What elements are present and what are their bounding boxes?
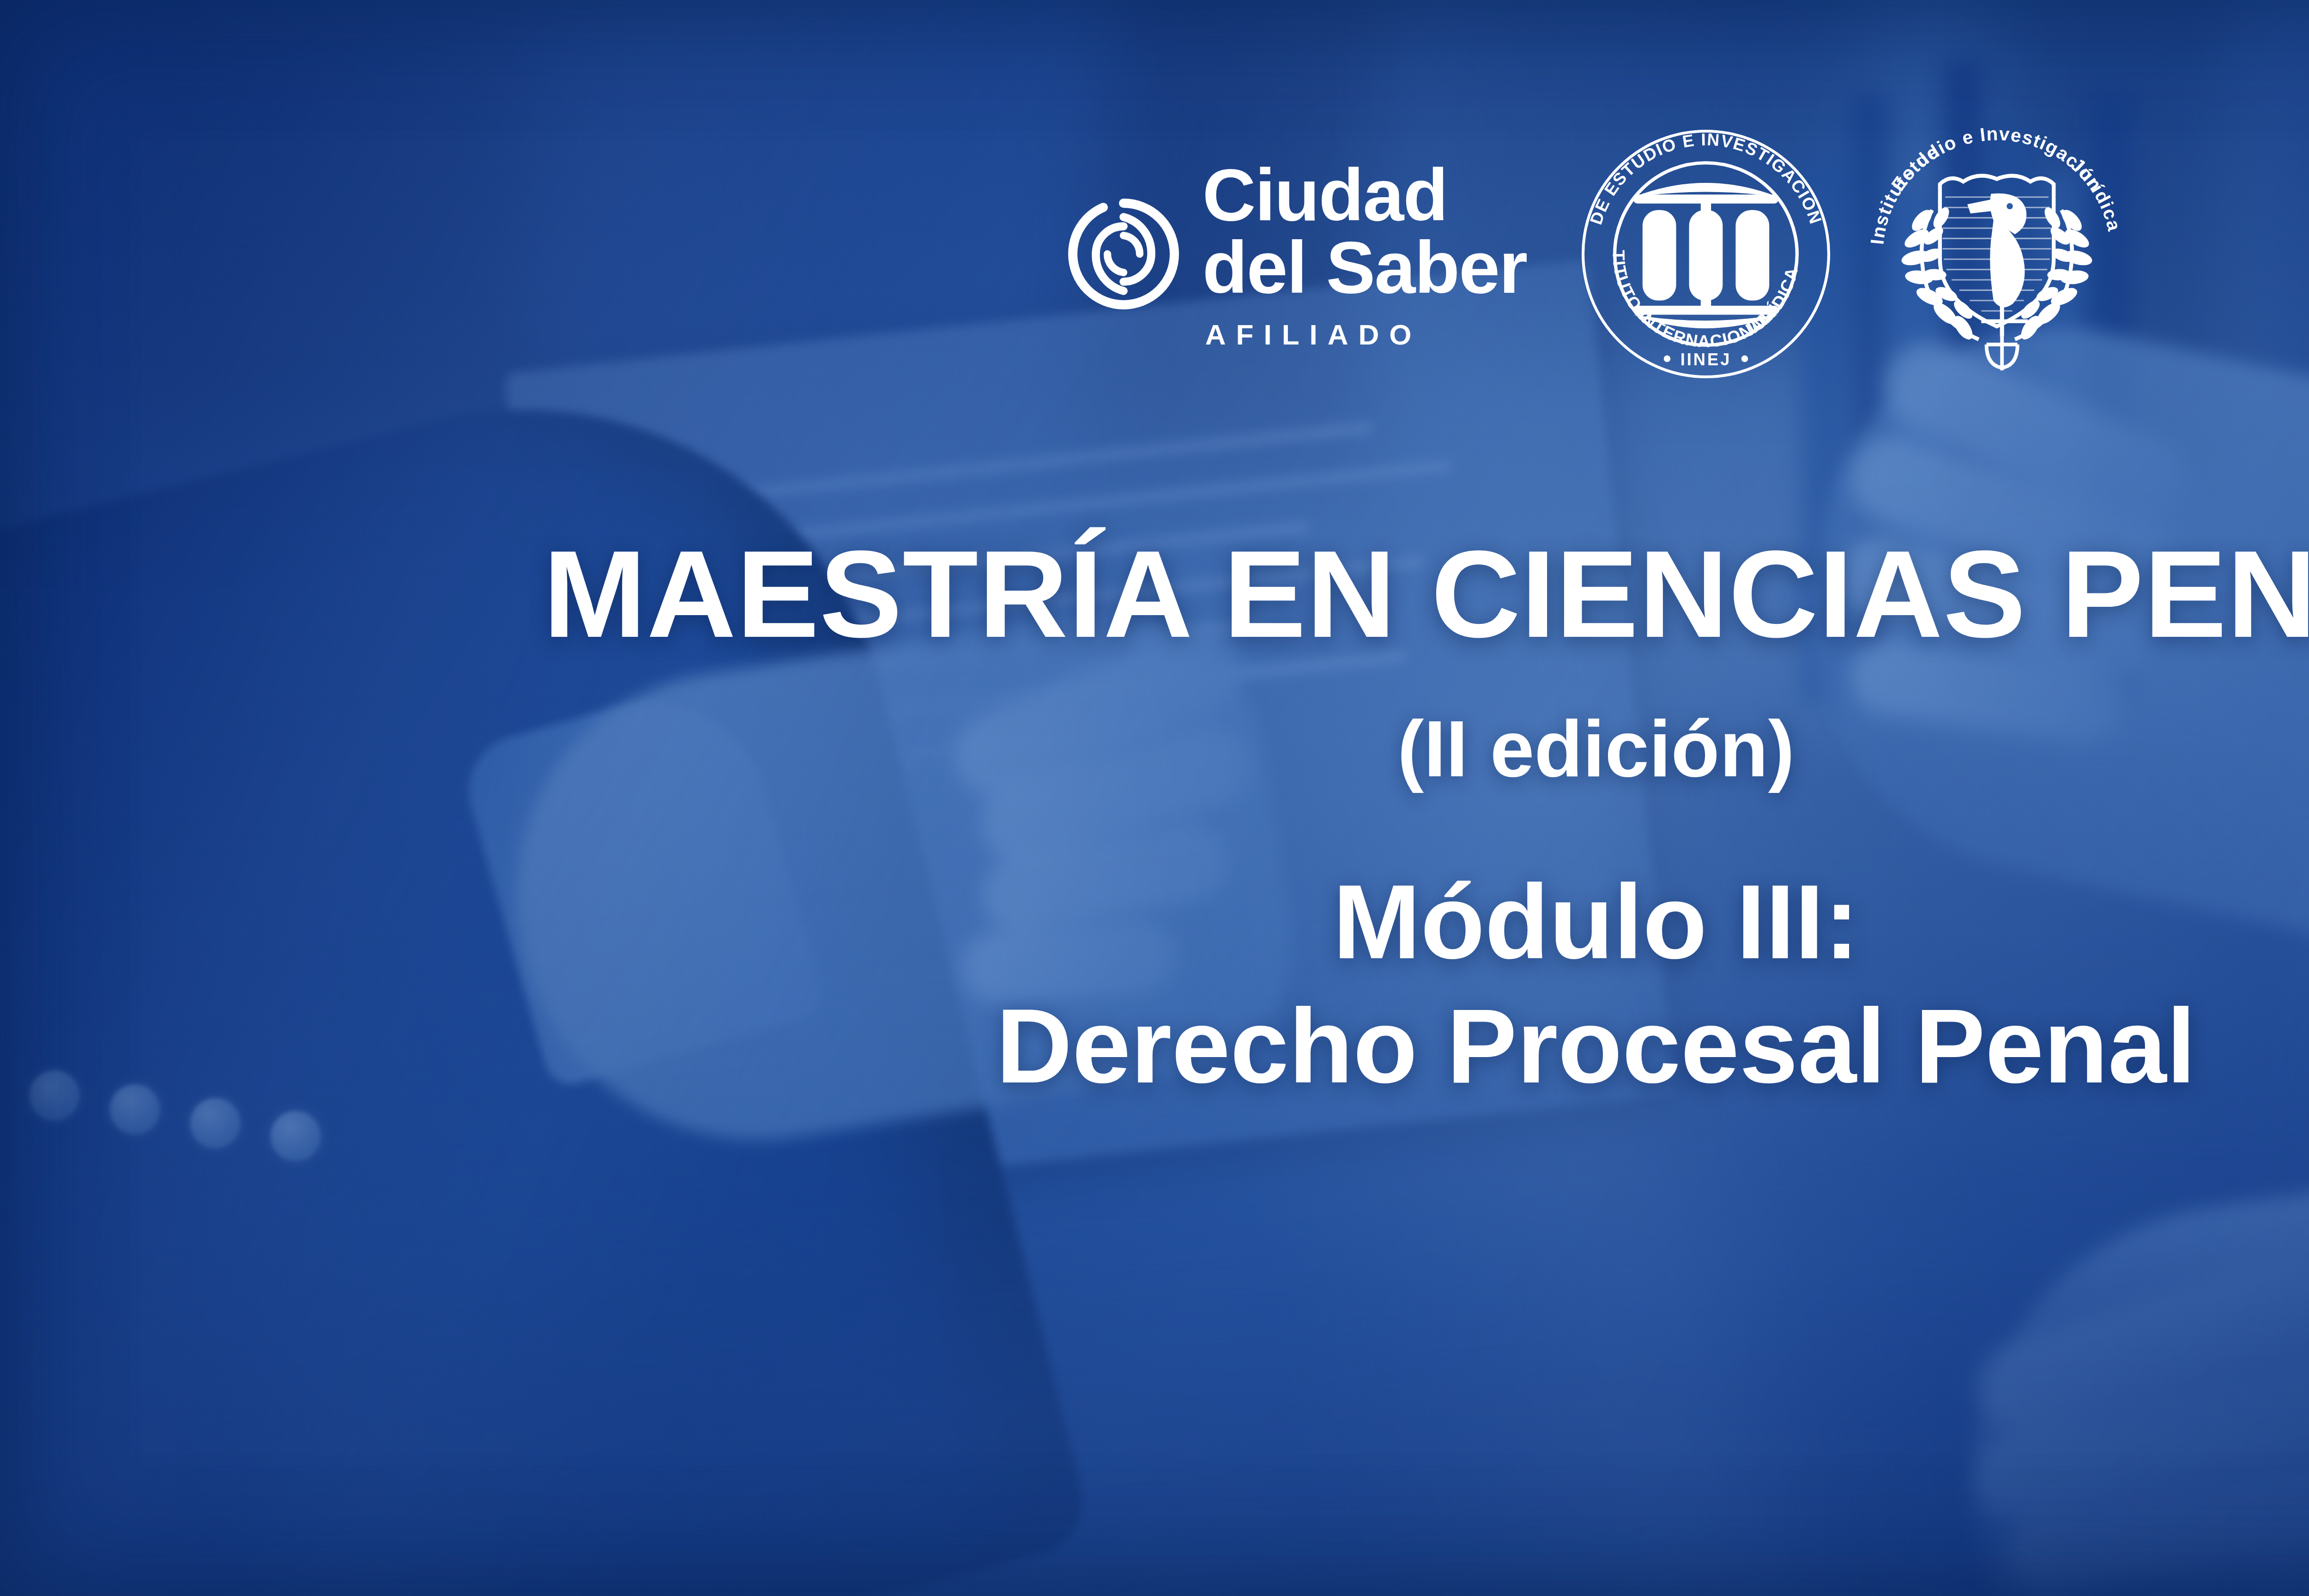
iej-seal-icon: Estudio e Investigación Instituto de Jur… [1868,125,2126,383]
module-label: Módulo III: [0,860,2309,984]
logo-ciudad-del-saber: Ciudad del Saber AFILIADO [1066,159,1527,349]
ciudad-del-saber-wordmark: Ciudad del Saber AFILIADO [1203,159,1527,349]
headings-block: MAESTRÍA EN CIENCIAS PENALES (II edición… [0,531,2309,1108]
page-title: MAESTRÍA EN CIENCIAS PENALES [0,531,2309,657]
slide-content: Ciudad del Saber AFILIADO DE ESTUDIO E I… [0,0,2309,1596]
iinej-acronym: IINEJ [1680,350,1732,369]
logo-bar: Ciudad del Saber AFILIADO DE ESTUDIO E I… [0,125,2309,383]
course-title-slide: Ciudad del Saber AFILIADO DE ESTUDIO E I… [0,0,2309,1596]
svg-text:Instituto de: Instituto de [1868,141,1942,246]
spiral-s-icon [1066,196,1181,312]
cds-line-2: del Saber [1203,231,1527,304]
edition-subtitle: (II edición) [0,707,2309,791]
cds-affiliation-label: AFILIADO [1205,321,1422,349]
module-block: Módulo III: Derecho Procesal Penal [0,860,2309,1108]
iinej-seal-icon: DE ESTUDIO E INVESTIGACIÓN INSTITUTO INT… [1577,125,1835,383]
module-name: Derecho Procesal Penal [0,984,2309,1108]
cds-line-1: Ciudad [1203,159,1447,231]
